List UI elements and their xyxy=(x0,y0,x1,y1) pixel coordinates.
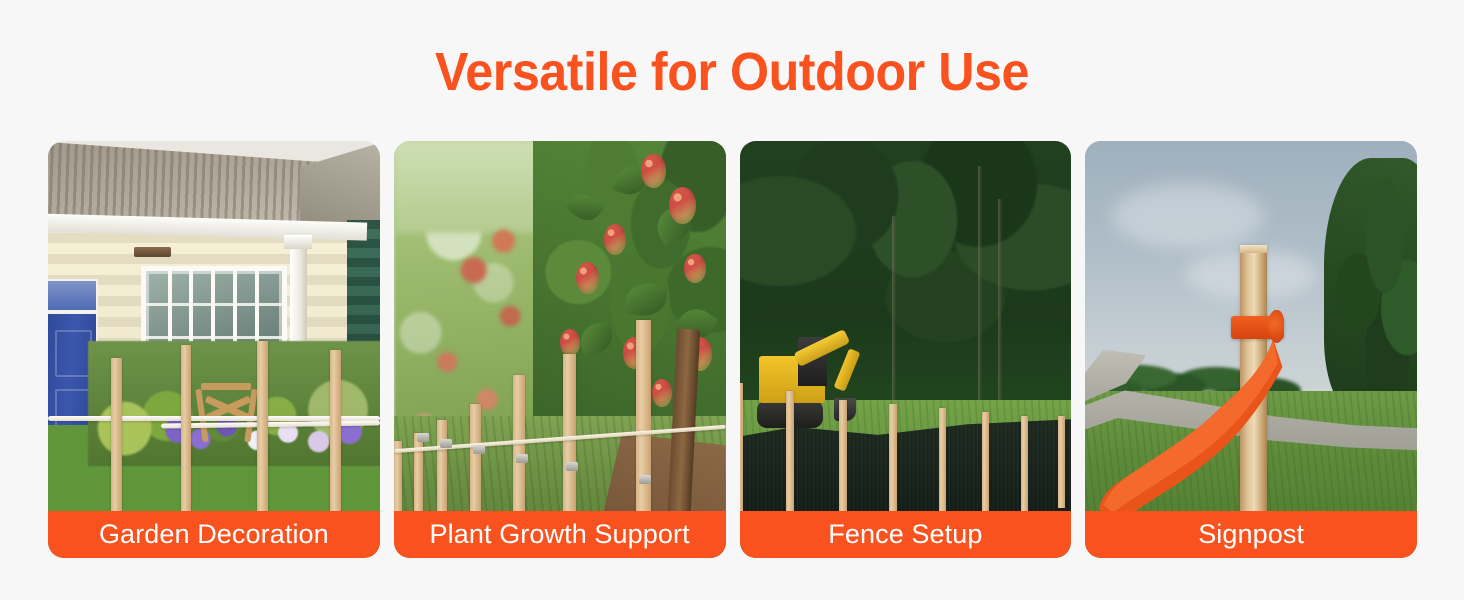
feature-card-fence-setup[interactable]: Fence Setup xyxy=(740,141,1072,558)
feature-card-signpost[interactable]: Signpost xyxy=(1085,141,1417,558)
feature-card-garden-decoration[interactable]: Garden Decoration xyxy=(48,141,380,558)
fence-setup-photo xyxy=(740,141,1072,558)
excavator-illustration xyxy=(759,316,872,433)
card-caption-signpost: Signpost xyxy=(1085,511,1417,558)
card-caption-garden-decoration: Garden Decoration xyxy=(48,511,380,558)
promo-banner: Versatile for Outdoor Use xyxy=(0,0,1464,600)
page-title: Versatile for Outdoor Use xyxy=(51,41,1413,103)
garden-decoration-photo xyxy=(48,141,380,558)
card-caption-fence-setup: Fence Setup xyxy=(740,511,1072,558)
ribbon-tail xyxy=(1099,333,1285,533)
feature-card-grid: Garden Decoration xyxy=(48,141,1417,558)
plant-growth-support-photo xyxy=(394,141,726,558)
feature-card-plant-growth-support[interactable]: Plant Growth Support xyxy=(394,141,726,558)
card-caption-plant-growth-support: Plant Growth Support xyxy=(394,511,726,558)
signpost-photo xyxy=(1085,141,1417,558)
